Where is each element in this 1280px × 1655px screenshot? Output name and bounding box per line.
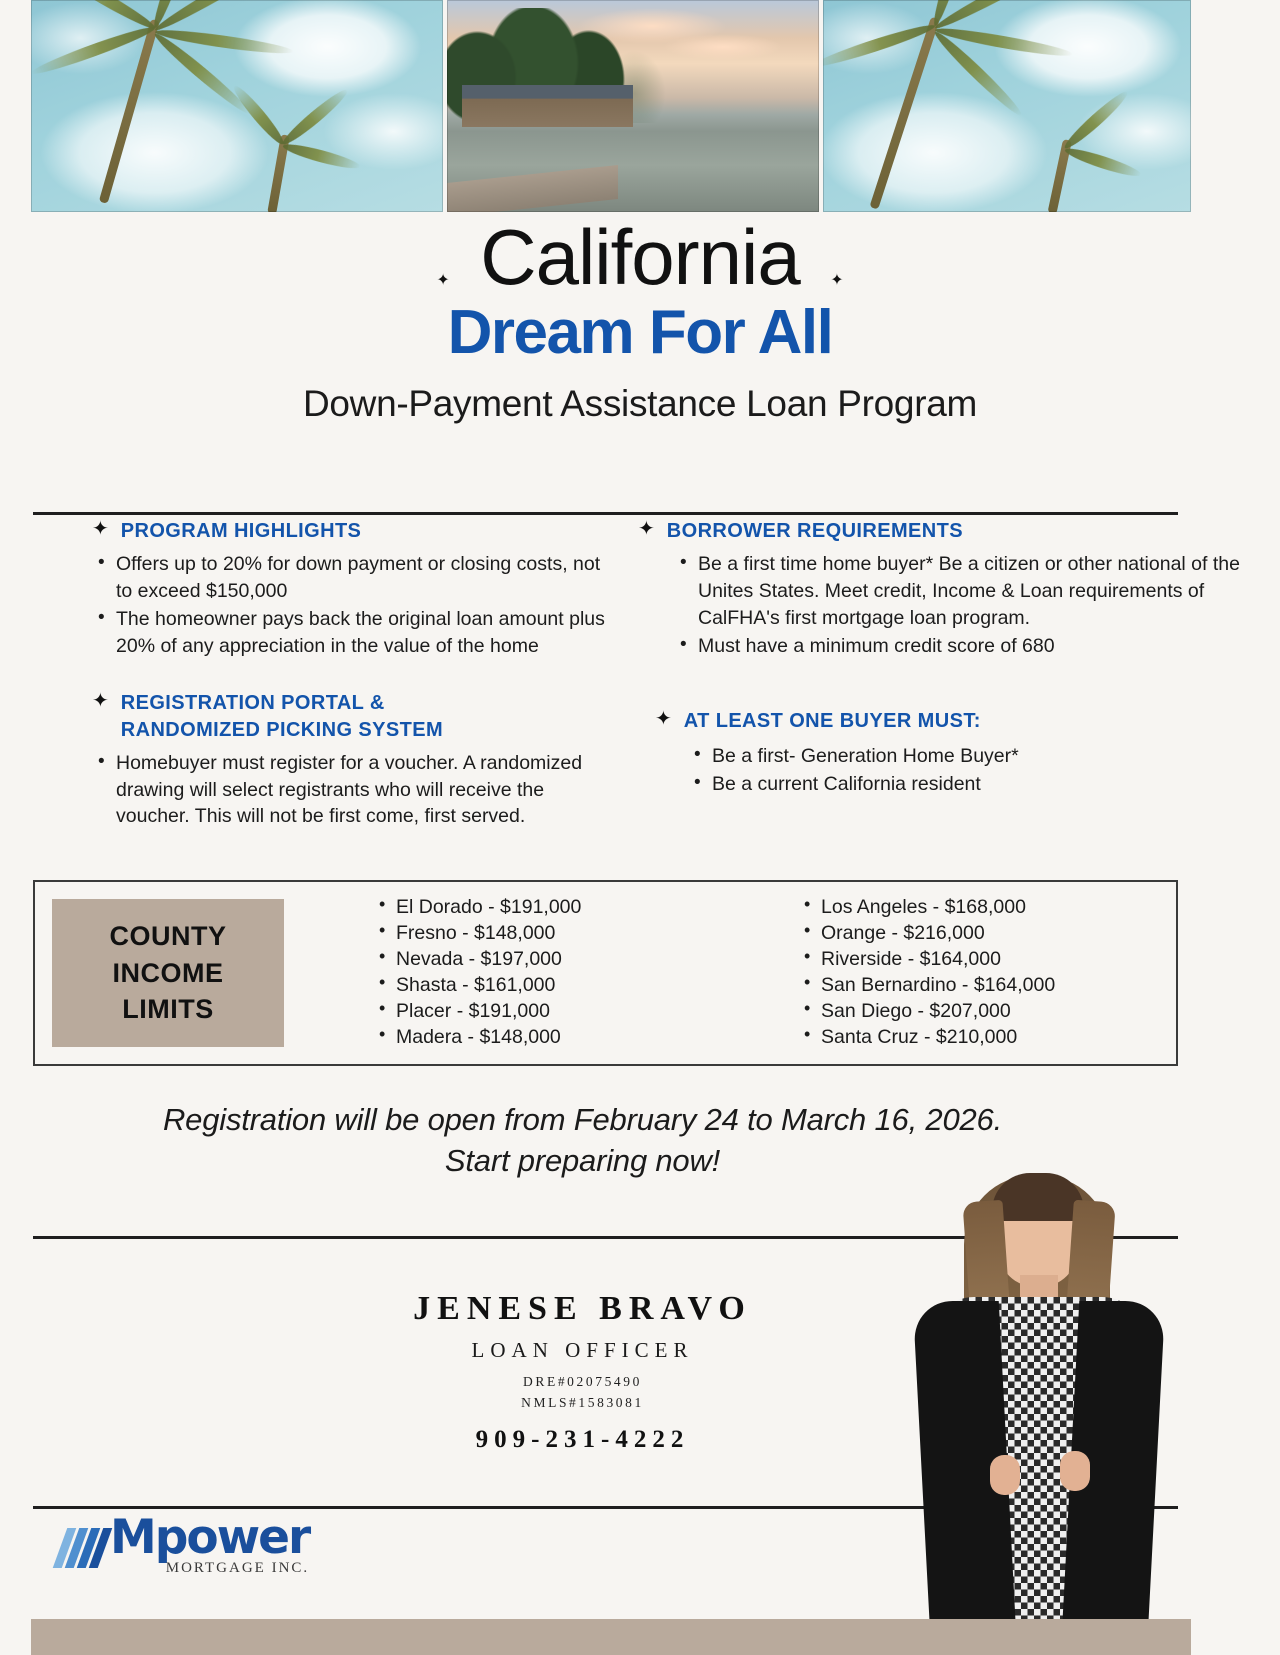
list-item: Be a current California resident (688, 771, 1280, 798)
list-item: Homebuyer must register for a voucher. A… (92, 750, 620, 831)
sparkle-icon: ✦ (638, 518, 655, 540)
county-income-limits-label: COUNTY INCOME LIMITS (52, 899, 284, 1047)
list-item: San Bernardino - $164,000 (801, 973, 1176, 999)
at-least-one-buyer-list: Be a first- Generation Home Buyer* Be a … (630, 743, 1280, 798)
header-photo-strip (31, 0, 1191, 212)
list-item: Placer - $191,000 (376, 999, 751, 1025)
sparkle-icon-right: ✦ (830, 270, 843, 290)
list-item: Must have a minimum credit score of 680 (674, 633, 1280, 660)
sparkle-icon-left: ✦ (436, 270, 449, 290)
county-list-column-1: El Dorado - $191,000 Fresno - $148,000 N… (376, 895, 751, 1051)
agent-portrait (912, 1155, 1162, 1655)
list-item: Madera - $148,000 (376, 1025, 751, 1051)
photo-palm-trees-sky-left (31, 0, 443, 212)
section-heading: PROGRAM HIGHLIGHTS (121, 518, 362, 545)
list-item: Nevada - $197,000 (376, 947, 751, 973)
list-item: Riverside - $164,000 (801, 947, 1176, 973)
sparkle-icon: ✦ (655, 708, 672, 730)
list-item: Be a first- Generation Home Buyer* (688, 743, 1280, 770)
list-item: Fresno - $148,000 (376, 921, 751, 947)
section-heading: BORROWER REQUIREMENTS (667, 518, 963, 545)
list-item: Be a first time home buyer* Be a citizen… (674, 551, 1280, 632)
mpower-logo-text: Mpower (110, 1516, 309, 1559)
footer-bar (31, 1619, 1191, 1655)
list-item: El Dorado - $191,000 (376, 895, 751, 921)
headline-subtitle: Down-Payment Assistance Loan Program (0, 383, 1280, 425)
photo-palm-trees-sky-right (823, 0, 1191, 212)
county-label-line2: INCOME (113, 955, 224, 991)
title-block: ✦ California ✦ Dream For All Down-Paymen… (0, 218, 1280, 425)
sparkle-icon: ✦ (92, 690, 109, 712)
county-list-column-2: Los Angeles - $168,000 Orange - $216,000… (751, 895, 1176, 1051)
sparkle-icon: ✦ (92, 518, 109, 540)
list-item: San Diego - $207,000 (801, 999, 1176, 1025)
county-label-line3: LIMITS (122, 991, 214, 1027)
headline-dream-for-all: Dream For All (0, 300, 1280, 365)
borrower-requirements-list: Be a first time home buyer* Be a citizen… (630, 551, 1280, 660)
list-item: Orange - $216,000 (801, 921, 1176, 947)
headline-california-row: ✦ California ✦ (0, 218, 1280, 296)
info-columns: ✦ PROGRAM HIGHLIGHTS Offers up to 20% fo… (0, 518, 1280, 831)
divider-top (33, 512, 1178, 515)
info-column-left: ✦ PROGRAM HIGHLIGHTS Offers up to 20% fo… (0, 518, 620, 831)
list-item: Santa Cruz - $210,000 (801, 1025, 1176, 1051)
county-label-line1: COUNTY (110, 918, 227, 954)
county-lists: El Dorado - $191,000 Fresno - $148,000 N… (284, 895, 1176, 1051)
section-program-highlights: ✦ PROGRAM HIGHLIGHTS Offers up to 20% fo… (92, 518, 620, 660)
registration-note-line1: Registration will be open from February … (0, 1100, 1165, 1141)
section-heading: AT LEAST ONE BUYER MUST: (684, 708, 981, 735)
registration-portal-list: Homebuyer must register for a voucher. A… (92, 750, 620, 831)
county-income-limits-box: COUNTY INCOME LIMITS El Dorado - $191,00… (33, 880, 1178, 1066)
section-heading-line2: RANDOMIZED PICKING SYSTEM (121, 719, 443, 741)
section-at-least-one-buyer: ✦ AT LEAST ONE BUYER MUST: Be a first- G… (630, 708, 1280, 798)
slashes-icon (60, 1528, 105, 1568)
program-highlights-list: Offers up to 20% for down payment or clo… (92, 551, 620, 660)
headline-california: California (480, 218, 799, 296)
section-heading: REGISTRATION PORTAL & RANDOMIZED PICKING… (121, 690, 443, 744)
list-item: Shasta - $161,000 (376, 973, 751, 999)
mpower-logo: Mpower MORTGAGE INC. (60, 1516, 309, 1577)
section-borrower-requirements: ✦ BORROWER REQUIREMENTS Be a first time … (630, 518, 1280, 660)
photo-lake-dock-sunset (447, 0, 819, 212)
section-heading-line1: REGISTRATION PORTAL & (121, 692, 385, 714)
list-item: The homeowner pays back the original loa… (92, 606, 620, 660)
section-registration-portal: ✦ REGISTRATION PORTAL & RANDOMIZED PICKI… (92, 690, 620, 831)
list-item: Offers up to 20% for down payment or clo… (92, 551, 620, 605)
info-column-right: ✦ BORROWER REQUIREMENTS Be a first time … (620, 518, 1280, 831)
list-item: Los Angeles - $168,000 (801, 895, 1176, 921)
